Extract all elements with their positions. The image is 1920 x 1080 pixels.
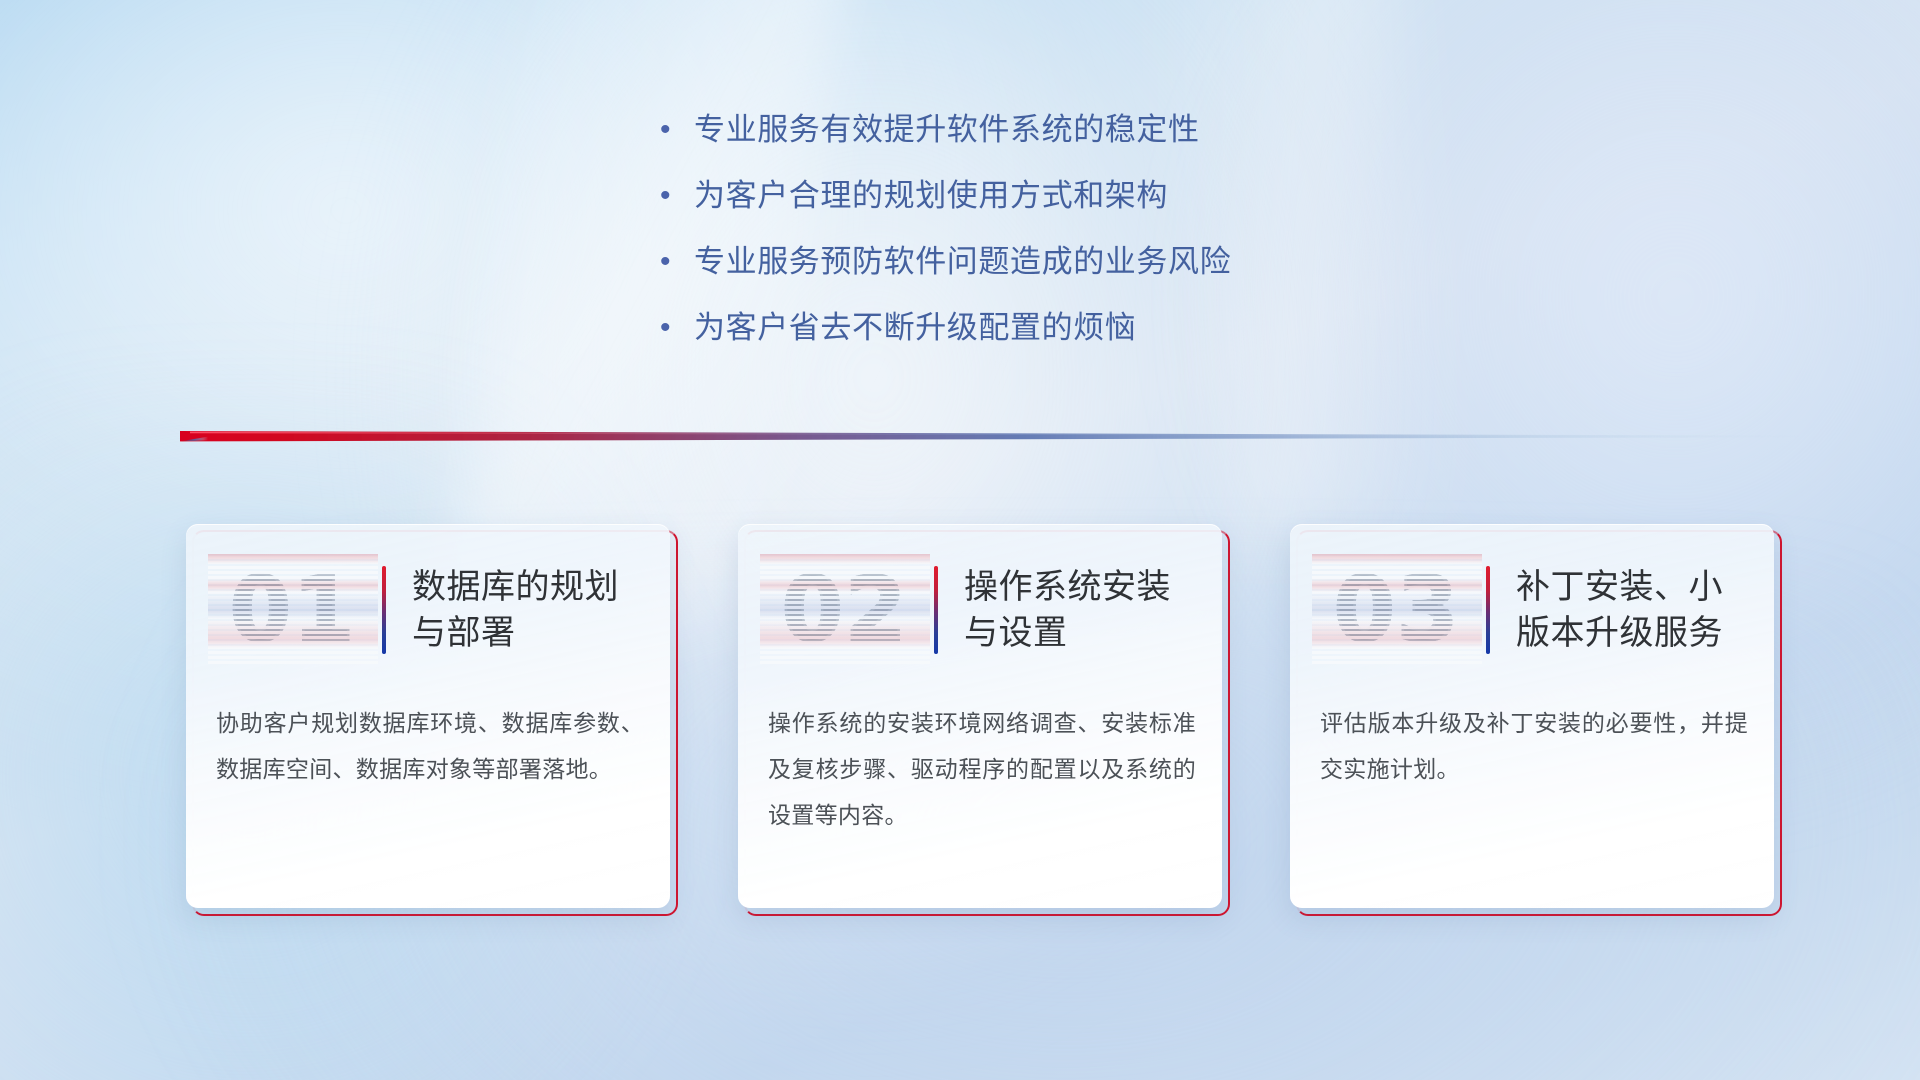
bullet-marker-icon: • [660, 174, 694, 218]
bullet-text: 为客户省去不断升级配置的烦恼 [694, 306, 1136, 350]
card-number-badge: 03 [1312, 554, 1482, 666]
section-divider [180, 427, 1800, 449]
list-item: • 专业服务预防软件问题造成的业务风险 [660, 240, 1231, 306]
feature-card[interactable]: 03 补丁安装、小版本升级服务 评估版本升级及补丁安装的必要性，并提交实施计划。 [1290, 524, 1782, 916]
bullet-text: 专业服务有效提升软件系统的稳定性 [694, 108, 1200, 152]
card-header: 02 操作系统安装与设置 [738, 550, 1204, 670]
card-surface: 02 操作系统安装与设置 操作系统的安装环境网络调查、安装标准及复核步骤、驱动程… [738, 524, 1222, 908]
card-header: 03 补丁安装、小版本升级服务 [1290, 550, 1756, 670]
card-number-text: 03 [1312, 554, 1482, 666]
bullet-text: 为客户合理的规划使用方式和架构 [694, 174, 1168, 218]
card-divider-bar [382, 566, 386, 654]
card-surface: 03 补丁安装、小版本升级服务 评估版本升级及补丁安装的必要性，并提交实施计划。 [1290, 524, 1774, 908]
card-divider-bar [1486, 566, 1490, 654]
feature-card[interactable]: 02 操作系统安装与设置 操作系统的安装环境网络调查、安装标准及复核步骤、驱动程… [738, 524, 1230, 916]
card-number-badge: 02 [760, 554, 930, 666]
card-divider-bar [934, 566, 938, 654]
benefits-bullet-list: • 专业服务有效提升软件系统的稳定性 • 为客户合理的规划使用方式和架构 • 专… [660, 108, 1231, 372]
list-item: • 为客户省去不断升级配置的烦恼 [660, 306, 1231, 372]
card-number-text: 01 [208, 554, 378, 666]
bullet-marker-icon: • [660, 240, 694, 284]
card-header: 01 数据库的规划与部署 [186, 550, 652, 670]
card-surface: 01 数据库的规划与部署 协助客户规划数据库环境、数据库参数、数据库空间、数据库… [186, 524, 670, 908]
card-number-badge: 01 [208, 554, 378, 666]
card-title: 数据库的规划与部署 [412, 564, 652, 656]
list-item: • 专业服务有效提升软件系统的稳定性 [660, 108, 1231, 174]
card-description: 评估版本升级及补丁安装的必要性，并提交实施计划。 [1320, 700, 1748, 792]
feature-card[interactable]: 01 数据库的规划与部署 协助客户规划数据库环境、数据库参数、数据库空间、数据库… [186, 524, 678, 916]
card-description: 协助客户规划数据库环境、数据库参数、数据库空间、数据库对象等部署落地。 [216, 700, 644, 792]
feature-card-row: 01 数据库的规划与部署 协助客户规划数据库环境、数据库参数、数据库空间、数据库… [186, 524, 1746, 924]
bullet-marker-icon: • [660, 108, 694, 152]
list-item: • 为客户合理的规划使用方式和架构 [660, 174, 1231, 240]
bullet-text: 专业服务预防软件问题造成的业务风险 [694, 240, 1231, 284]
bullet-marker-icon: • [660, 306, 694, 350]
card-description: 操作系统的安装环境网络调查、安装标准及复核步骤、驱动程序的配置以及系统的设置等内… [768, 700, 1196, 838]
card-title: 补丁安装、小版本升级服务 [1516, 564, 1756, 656]
card-title: 操作系统安装与设置 [964, 564, 1204, 656]
card-number-text: 02 [760, 554, 930, 666]
divider-shape-icon [180, 427, 1800, 449]
